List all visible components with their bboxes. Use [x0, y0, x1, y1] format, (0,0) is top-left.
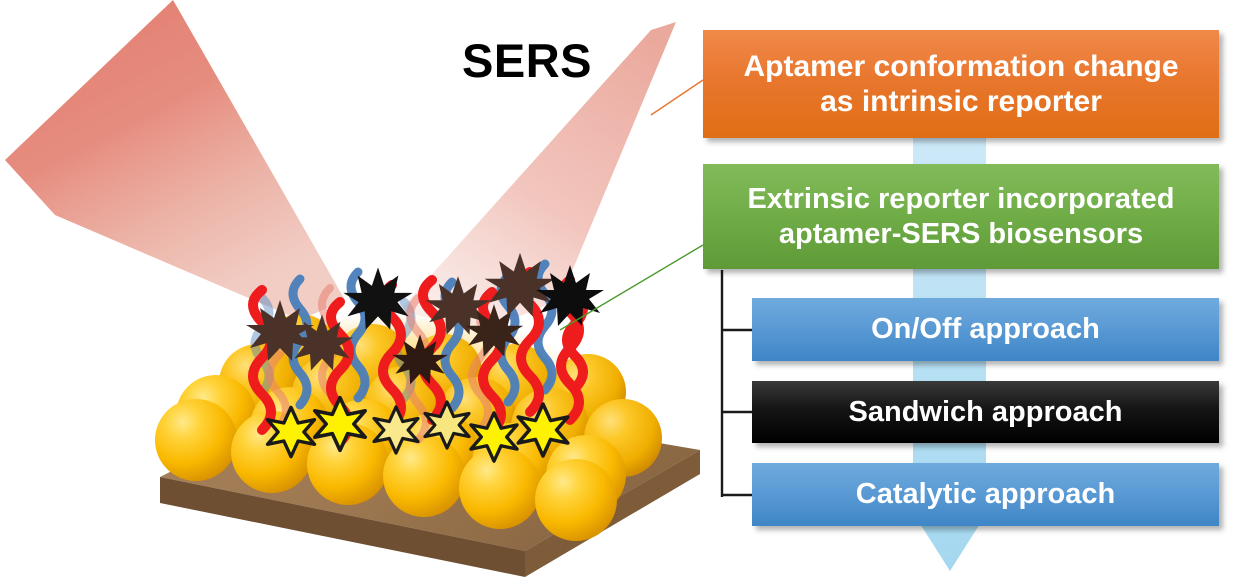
intrinsic-reporter-line1: Aptamer conformation change	[743, 50, 1178, 83]
approach-label-catalytic: Catalytic approach	[856, 477, 1115, 511]
approach-label-sandwich: Sandwich approach	[849, 395, 1123, 429]
intrinsic-reporter-label: Aptamer conformation change as intrinsic…	[743, 49, 1178, 120]
extrinsic-reporter-label: Extrinsic reporter incorporated aptamer-…	[747, 182, 1174, 250]
figure-canvas: SERS Aptamer conformation change as intr…	[0, 0, 1239, 584]
approach-label-on-off: On/Off approach	[871, 312, 1100, 346]
approach-box-sandwich[interactable]: Sandwich approach	[752, 381, 1219, 443]
incident-laser-beam	[5, 0, 345, 320]
extrinsic-reporter-box[interactable]: Extrinsic reporter incorporated aptamer-…	[703, 164, 1219, 269]
approach-box-on-off[interactable]: On/Off approach	[752, 298, 1219, 361]
extrinsic-reporter-line1: Extrinsic reporter incorporated	[747, 183, 1174, 215]
connector-line-orange	[651, 80, 703, 115]
intrinsic-reporter-line2: as intrinsic reporter	[820, 85, 1102, 118]
intrinsic-reporter-box[interactable]: Aptamer conformation change as intrinsic…	[703, 30, 1219, 138]
bracket-connector	[722, 270, 752, 497]
approach-box-catalytic[interactable]: Catalytic approach	[752, 463, 1219, 526]
extrinsic-reporter-line2: aptamer-SERS biosensors	[779, 218, 1143, 250]
sers-label: SERS	[462, 37, 592, 84]
